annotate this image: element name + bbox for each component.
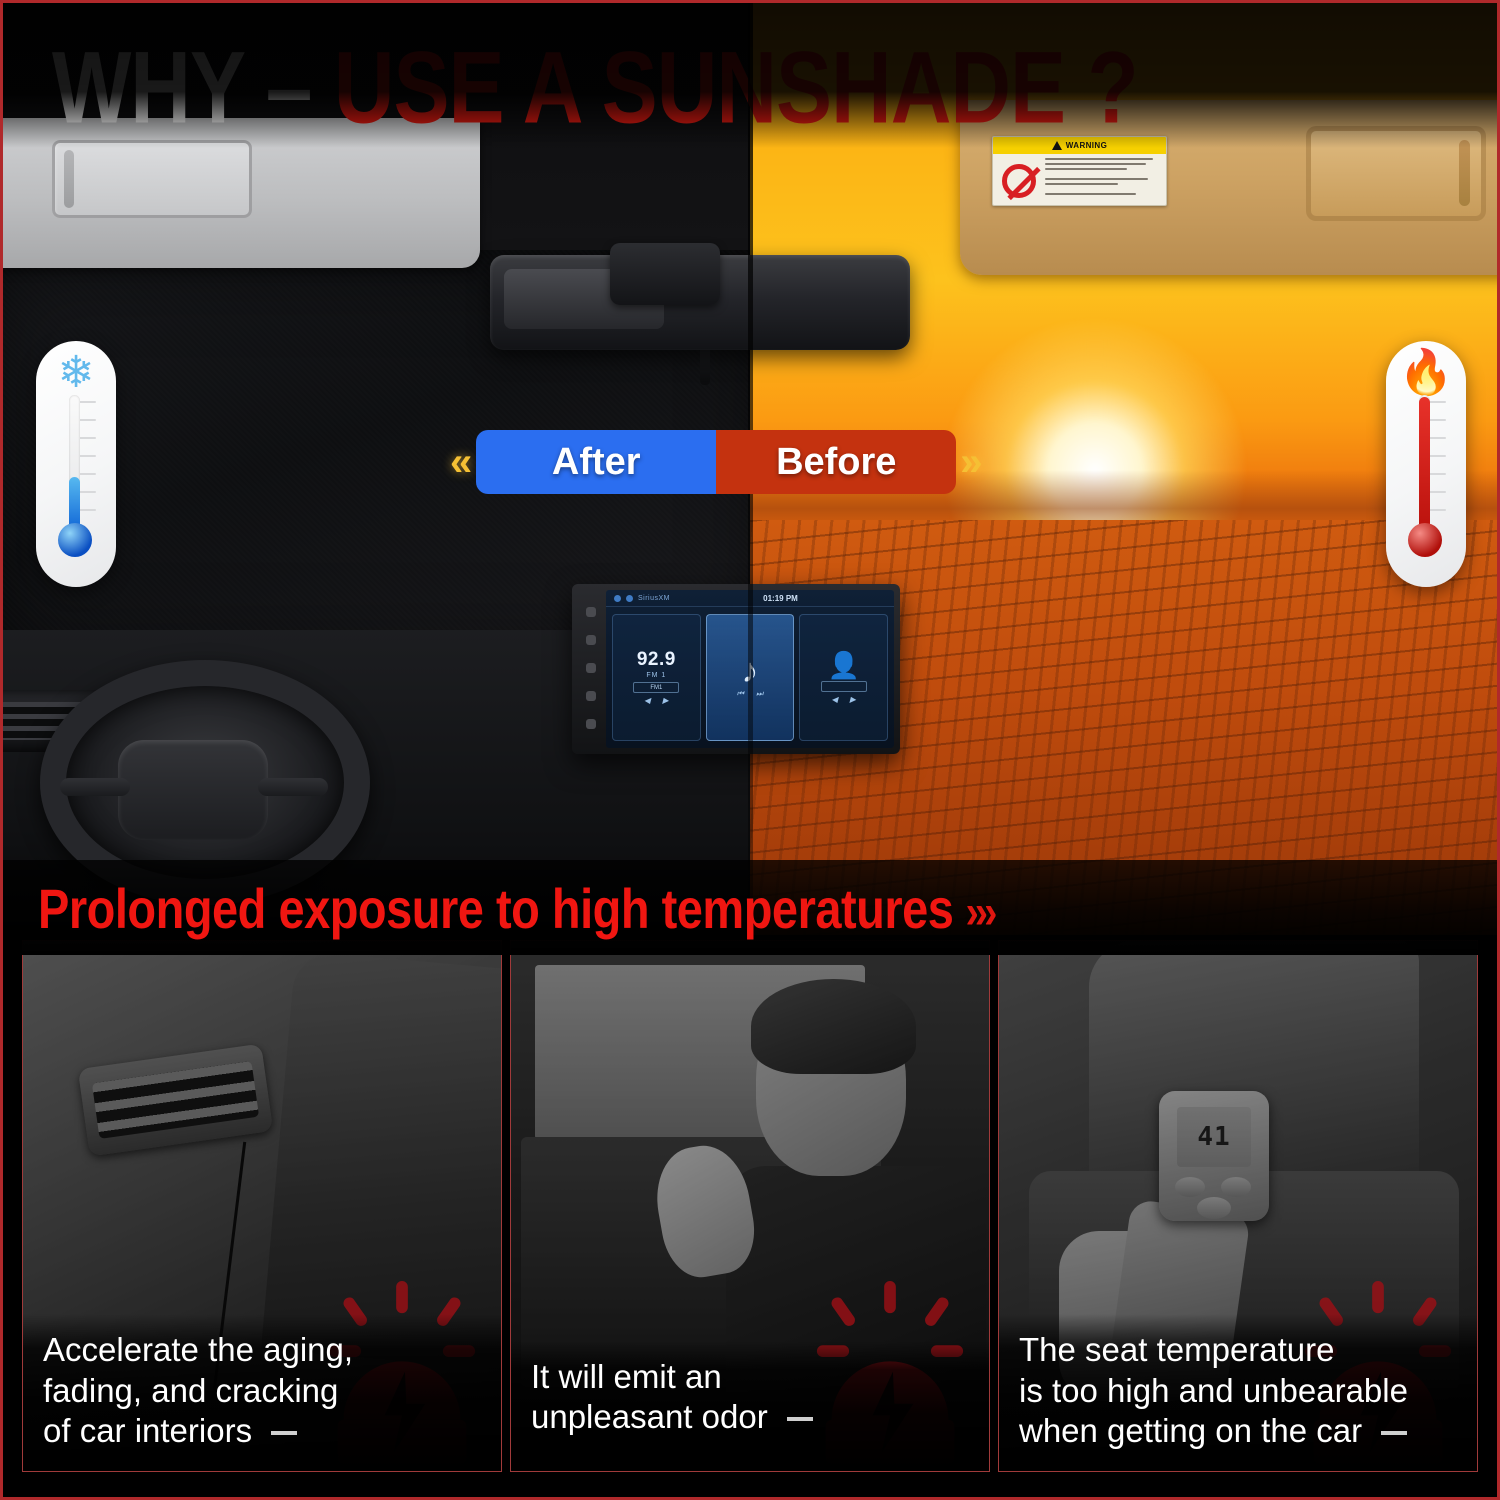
title-overlay-band	[0, 0, 1500, 148]
caption-dash-mark	[787, 1417, 813, 1421]
panel-1-caption: Accelerate the aging, fading, and cracki…	[23, 1314, 501, 1471]
radio-tile[interactable]: 92.9 FM 1 FM1 ◀ ▶	[612, 614, 701, 741]
thermometer-button-mode[interactable]	[1197, 1197, 1231, 1219]
hot-thermometer: 🔥	[1386, 341, 1466, 587]
panel-aging-fading-cracking: Accelerate the aging, fading, and cracki…	[22, 940, 502, 1472]
panel-seat-temperature: 41 The	[998, 940, 1478, 1472]
panel-3-caption-line-2: is too high and unbearable	[1019, 1371, 1457, 1411]
cold-thermometer-bulb	[58, 523, 92, 557]
caption-dash-mark	[271, 1431, 297, 1435]
chevron-left-icon: «	[450, 442, 472, 482]
mirror-stalk	[700, 345, 710, 385]
hot-thermometer-fill	[1419, 397, 1430, 535]
panel-3-caption-line-1: The seat temperature	[1019, 1330, 1457, 1370]
profile-prev-icon[interactable]: ◀	[832, 695, 838, 704]
radio-prev-icon[interactable]: ◀	[644, 696, 650, 705]
warning-label-body	[993, 154, 1166, 206]
person-icon: 👤	[827, 652, 859, 678]
warning-label-lines	[1045, 154, 1166, 206]
flame-icon: 🔥	[1386, 351, 1466, 395]
radio-band: FM 1	[646, 672, 666, 679]
head-unit-button-power[interactable]	[586, 607, 596, 617]
panel-unpleasant-odor: It will emit an unpleasant odor	[510, 940, 990, 1472]
thermometer-button-right[interactable]	[1221, 1177, 1251, 1197]
panel-1-caption-line-3-text: of car interiors	[43, 1412, 252, 1449]
hot-thermometer-tube	[1419, 395, 1430, 535]
profile-pill[interactable]	[821, 681, 867, 692]
bluetooth-icon	[614, 595, 621, 602]
signal-icon	[626, 595, 633, 602]
panel-1-caption-line-2: fading, and cracking	[43, 1371, 481, 1411]
panel-2-caption-line-2-text: unpleasant odor	[531, 1398, 768, 1435]
head-unit-side-buttons[interactable]	[580, 598, 602, 738]
radio-preset[interactable]: FM1	[633, 682, 679, 693]
profile-controls[interactable]: ◀ ▶	[832, 695, 856, 704]
clock-label: 01:19 PM	[763, 594, 798, 603]
rearview-mirror	[490, 255, 910, 350]
cold-thermometer: ❄	[36, 341, 116, 587]
after-badge: After	[476, 430, 716, 494]
product-infographic: WARNING	[0, 0, 1500, 1500]
panel-3-caption-line-3: when getting on the car	[1019, 1411, 1457, 1451]
radio-next-icon[interactable]: ▶	[662, 696, 668, 705]
panel-2-caption-line-1: It will emit an	[531, 1357, 969, 1397]
no-child-seat-icon-wrap	[993, 154, 1045, 206]
carrier-label: SiriusXM	[638, 595, 670, 602]
head-unit-button-menu[interactable]	[586, 691, 596, 701]
head-unit-button-eject[interactable]	[586, 719, 596, 729]
head-unit-button-volume[interactable]	[586, 663, 596, 673]
mid-headline-chevrons-icon: ›››	[965, 887, 993, 939]
profile-next-icon[interactable]: ▶	[850, 695, 856, 704]
caption-dash-mark	[1381, 1431, 1407, 1435]
panel-3-caption: The seat temperature is too high and unb…	[999, 1314, 1477, 1471]
steering-wheel-spoke-left	[60, 778, 130, 796]
panel-1-caption-line-1: Accelerate the aging,	[43, 1330, 481, 1370]
infotainment-head-unit[interactable]: SiriusXM 01:19 PM 92.9 FM 1 FM1 ◀ ▶ ♪	[572, 584, 900, 754]
before-after-badges: « After Before »	[450, 430, 983, 494]
panel-1-caption-line-3: of car interiors	[43, 1411, 481, 1451]
radio-frequency: 92.9	[637, 650, 676, 669]
panel-2-caption-line-2: unpleasant odor	[531, 1397, 969, 1437]
dashcam-device	[610, 243, 720, 305]
thermometer-button-left[interactable]	[1175, 1177, 1205, 1197]
person-hair	[751, 979, 916, 1074]
temperature-reading: 41	[1197, 1122, 1230, 1152]
mid-headline-text: Prolonged exposure to high temperatures	[38, 877, 953, 940]
chevron-right-icon: »	[960, 442, 982, 482]
visor-mirror-cover	[52, 140, 252, 218]
thermometer-gun-display: 41	[1177, 1107, 1251, 1167]
panel-3-caption-line-3-text: when getting on the car	[1019, 1412, 1362, 1449]
profile-tile[interactable]: 👤 ◀ ▶	[799, 614, 888, 741]
media-forward-icon[interactable]: ⏭	[756, 689, 763, 699]
consequence-panels: Accelerate the aging, fading, and cracki…	[0, 940, 1500, 1500]
steering-wheel-spoke-right	[258, 778, 328, 796]
radio-controls[interactable]: ◀ ▶	[644, 696, 668, 705]
infrared-thermometer-gun: 41	[1159, 1091, 1269, 1221]
steering-wheel-hub	[118, 740, 268, 840]
panel-2-caption: It will emit an unpleasant odor	[511, 1341, 989, 1472]
prohibition-icon	[1002, 164, 1036, 198]
head-unit-button-home[interactable]	[586, 635, 596, 645]
snowflake-icon: ❄	[36, 351, 116, 395]
before-badge: Before	[716, 430, 956, 494]
hot-thermometer-bulb	[1408, 523, 1442, 557]
cold-thermometer-tube	[69, 395, 80, 535]
mid-headline: Prolonged exposure to high temperatures›…	[38, 876, 993, 941]
media-rewind-icon[interactable]: ⏮	[737, 689, 744, 699]
